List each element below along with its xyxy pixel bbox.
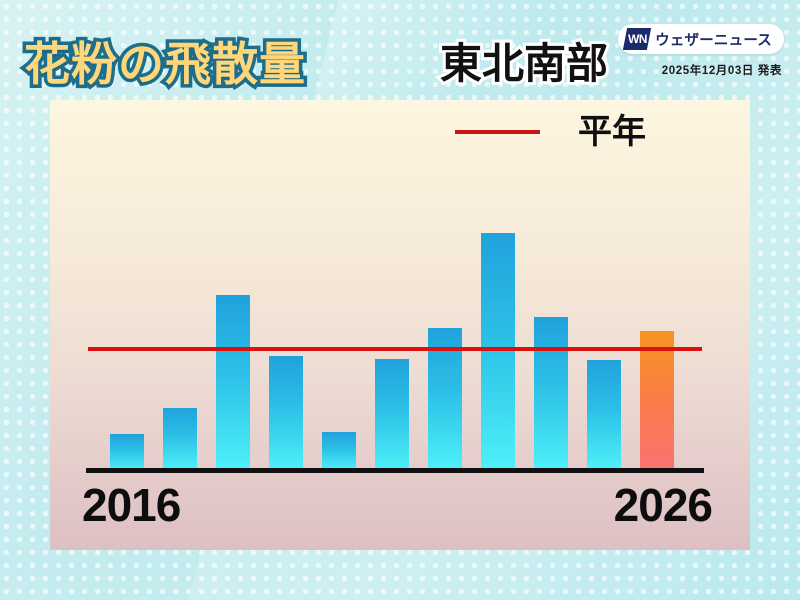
region-title: 東北南部: [440, 30, 608, 91]
bar-2026: [640, 331, 674, 470]
chart-panel: 平年 2016 2026: [50, 100, 750, 550]
wn-logo-text: WN: [628, 32, 647, 46]
bar-2024: [534, 317, 568, 470]
bar-2019: [269, 356, 303, 470]
wn-logo-icon: WN: [623, 28, 651, 50]
publish-date: 2025年12月03日 発表: [662, 62, 782, 78]
axis-label-start-year: 2016: [82, 482, 180, 528]
bar-2018: [216, 295, 250, 470]
bar-2020: [322, 432, 356, 470]
bar-2016: [110, 434, 144, 470]
x-axis-line: [86, 468, 704, 473]
bar-2023: [481, 233, 515, 470]
axis-label-end-year: 2026: [614, 482, 712, 528]
infographic-root: 花粉の飛散量 東北南部 WN ウェザーニュース 2025年12月03日 発表 平…: [0, 0, 800, 600]
bar-2017: [163, 408, 197, 470]
bar-2021: [375, 359, 409, 470]
average-reference-line: [88, 347, 702, 351]
page-title: 花粉の飛散量: [24, 28, 306, 94]
weathernews-logo: WN ウェザーニュース: [618, 24, 784, 54]
brand-name: ウェザーニュース: [655, 29, 772, 50]
bar-2025: [587, 360, 621, 470]
